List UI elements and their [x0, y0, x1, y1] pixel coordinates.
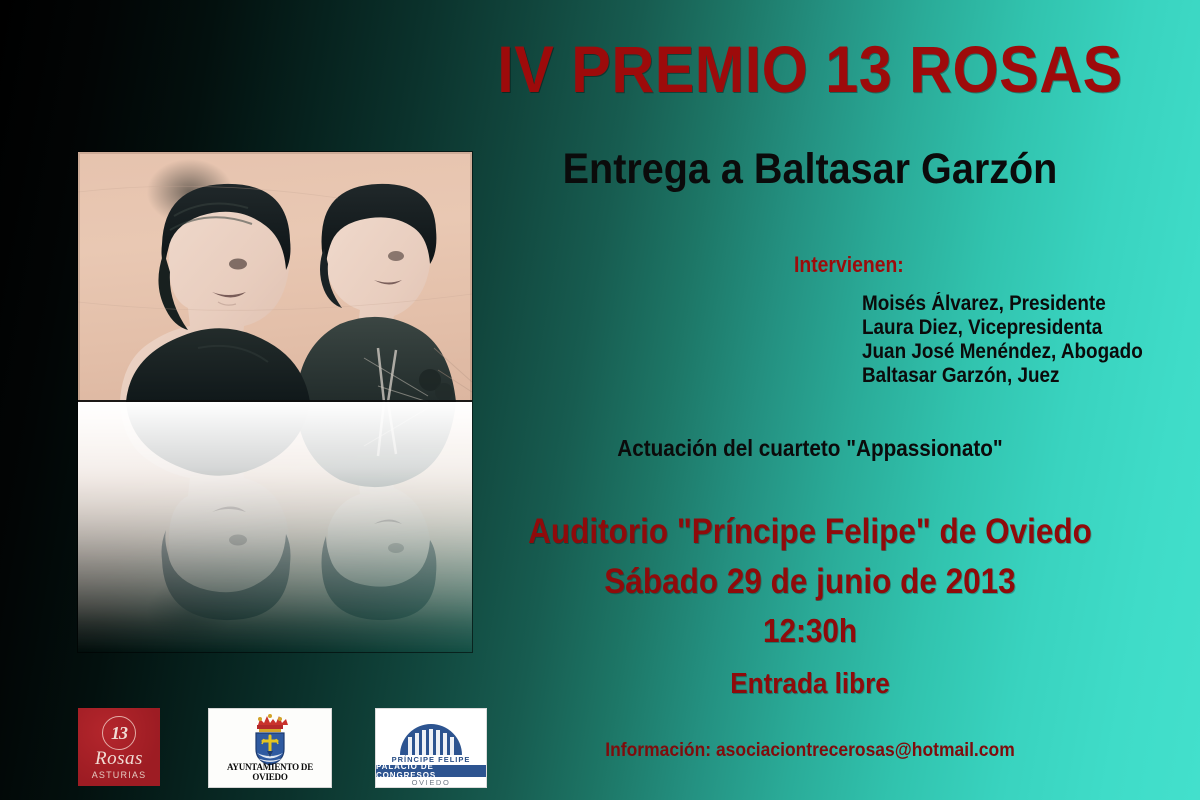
event-date: Sábado 29 de junio de 2013	[468, 562, 1152, 602]
speakers-list: Moisés Álvarez, Presidente Laura Diez, V…	[862, 292, 1143, 388]
list-item: Laura Diez, Vicepresidenta	[862, 316, 1143, 340]
logo-auditorio-principe-felipe: AUDITORIO PRÍNCIPE FELIPE PALACIO DE CON…	[375, 708, 487, 788]
page-subtitle: Entrega a Baltasar Garzón	[460, 148, 1159, 191]
photo-reflection	[78, 402, 472, 652]
historic-photograph	[78, 152, 472, 652]
photo-reflection-image	[78, 402, 472, 652]
contact-info: Información: asociaciontrecerosas@hotmai…	[460, 740, 1159, 762]
venue-name: Auditorio "Príncipe Felipe" de Oviedo	[468, 512, 1152, 552]
logo-ayuntamiento-oviedo: AYUNTAMIENTO DE OVIEDO	[208, 708, 332, 788]
logo-rosas-region: ASTURIAS	[78, 770, 160, 780]
admission-note: Entrada libre	[468, 668, 1152, 701]
oviedo-coat-of-arms-icon	[209, 713, 331, 765]
logo-rosas-word: Rosas	[78, 748, 160, 770]
speakers-heading: Intervienen:	[794, 252, 904, 278]
photo-image	[78, 152, 472, 402]
logo-auditorio-subtitle: PALACIO DE CONGRESOS	[376, 765, 486, 777]
logo-ayuntamiento-label: AYUNTAMIENTO DE OVIEDO	[209, 762, 331, 782]
performance-note: Actuación del cuarteto "Appassionato"	[468, 435, 1152, 462]
auditorium-building-icon: AUDITORIO	[376, 711, 486, 757]
logo-13-rosas: 13 Rosas ASTURIAS	[78, 708, 160, 786]
logo-auditorio-city: OVIEDO	[376, 778, 486, 787]
list-item: Juan José Menéndez, Abogado	[862, 340, 1143, 364]
logo-rosas-number: 13	[102, 716, 136, 750]
page-title: IV PREMIO 13 ROSAS	[468, 36, 1152, 102]
photo-upright	[78, 152, 472, 402]
event-time: 12:30h	[468, 612, 1152, 650]
list-item: Baltasar Garzón, Juez	[862, 364, 1143, 388]
list-item: Moisés Álvarez, Presidente	[862, 292, 1143, 316]
photo-mirror-seam	[78, 400, 472, 402]
event-poster: IV PREMIO 13 ROSAS Entrega a Baltasar Ga…	[0, 0, 1200, 800]
